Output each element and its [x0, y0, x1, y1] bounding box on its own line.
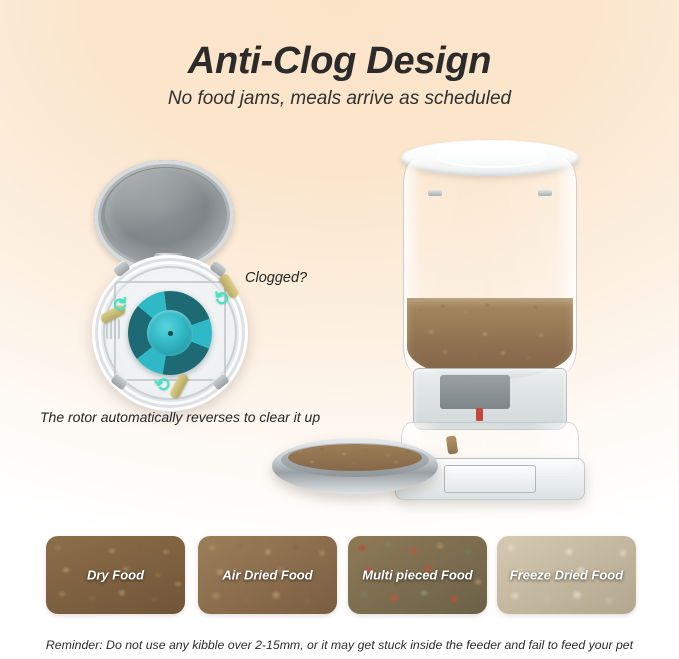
food-swatch-label: Freeze Dried Food	[497, 568, 636, 583]
page-subtitle: No food jams, meals arrive as scheduled	[0, 88, 679, 110]
rotor-caption: The rotor automatically reverses to clea…	[40, 409, 320, 425]
hopper-clip-icon	[538, 190, 552, 196]
dispensing-mechanism	[413, 368, 567, 430]
page-title: Anti-Clog Design	[0, 40, 679, 83]
food-swatch-air-dried: Air Dried Food	[198, 536, 337, 614]
feeder-rotor-housing: ⟳ ⟳ ⟳	[92, 255, 248, 411]
marketing-image-canvas: Anti-Clog Design No food jams, meals arr…	[0, 0, 679, 659]
rotor-cutaway-illustration: ⟳ ⟳ ⟳	[80, 160, 260, 400]
food-type-swatch-row: Dry Food Air Dried Food Multi pieced Foo…	[46, 536, 636, 614]
food-swatch-freeze-dried: Freeze Dried Food	[497, 536, 636, 614]
hopper-clip-icon	[428, 190, 442, 196]
food-swatch-dry: Dry Food	[46, 536, 185, 614]
mechanism-indicator-icon	[476, 408, 483, 421]
stainless-steel-bowl	[272, 438, 438, 494]
rotor-disc	[128, 291, 212, 375]
reminder-text: Reminder: Do not use any kibble over 2-1…	[0, 638, 679, 652]
bowl-kibble-fill	[288, 444, 422, 471]
food-swatch-multi-pieced: Multi pieced Food	[348, 536, 487, 614]
food-swatch-label: Air Dried Food	[198, 568, 337, 583]
food-swatch-label: Dry Food	[46, 568, 185, 583]
reverse-arrow-icon: ⟳	[153, 375, 171, 396]
rotor-hub	[147, 310, 193, 356]
mechanism-motor-block	[440, 375, 510, 409]
clogged-annotation: Clogged?	[245, 270, 307, 286]
base-inner-frame	[444, 465, 536, 493]
food-swatch-label: Multi pieced Food	[348, 568, 487, 583]
